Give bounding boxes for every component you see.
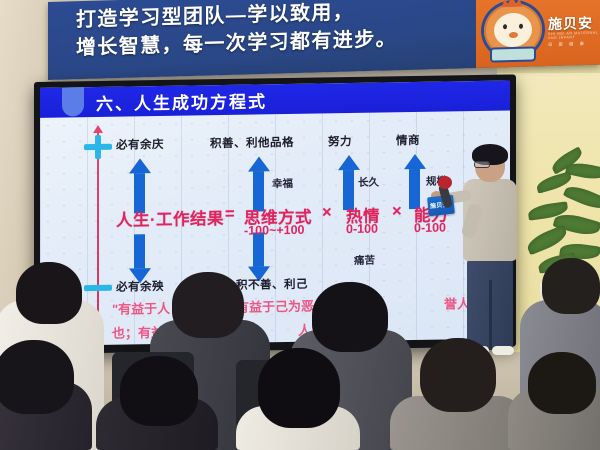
slide-title: 六、人生成功方程式 (96, 87, 267, 115)
slide-label-bottom-3: 痛苦 (354, 253, 375, 268)
audience-person-4-head (542, 258, 600, 314)
plus-symbol-icon-v (95, 135, 101, 159)
audience-person-8-head (420, 338, 496, 412)
equation-multiply-1: × (322, 203, 332, 222)
equation-term-2-range: 0-100 (346, 222, 378, 237)
minus-symbol-icon (84, 285, 112, 291)
meeting-room-scene: 打造学习型团队—学以致用， 增长智慧，每一次学习都有进步。 施贝安 SHI BE… (0, 0, 600, 450)
banner-text: 打造学习型团队—学以致用， 增长智慧，每一次学习都有进步。 (76, 0, 466, 63)
microphone-head-icon (438, 176, 452, 189)
logo-subtitle: SHI BEI AN MATERNAL AND INFANT (548, 31, 600, 40)
equation-term-1-range: -100~+100 (244, 223, 304, 238)
audience-person-3-head (312, 282, 388, 352)
equation-equals: = (225, 205, 235, 224)
lion-mascot-icon (482, 0, 546, 62)
slide-label-top-1: 必有余庆 (116, 136, 164, 153)
equation-term-3-range: 0-100 (414, 221, 446, 236)
up-arrow-head-1 (129, 158, 151, 173)
slide-label-mid-1: 幸福 (272, 176, 293, 191)
presenter-glasses-icon (474, 161, 490, 168)
down-arrow-shaft-1 (134, 234, 145, 268)
up-arrow-head-3 (338, 155, 360, 170)
slide-label-bottom-1: 必有余殃 (116, 278, 164, 295)
slide-label-bottom-2: 积不善、利己 (236, 276, 308, 293)
audience-person-5-head (0, 340, 74, 414)
audience-person-7-head (258, 348, 340, 428)
audience-person-2-head (172, 272, 244, 338)
up-arrow-head-4 (404, 154, 426, 169)
presenter-shoe-right (492, 346, 514, 355)
presenter: 施贝安 (455, 148, 525, 363)
equation-result: 人生·工作结果 (116, 205, 224, 231)
audience-person-9-head (528, 352, 596, 414)
company-logo: 施贝安 SHI BEI AN MATERNAL AND INFANT 母 婴 健… (476, 0, 600, 68)
slide-quote-1: "有益于人 (112, 298, 170, 318)
logo-subtitle-cn: 母 婴 健 康 (548, 41, 586, 48)
slide-label-mid-2: 长久 (358, 175, 379, 190)
equation-multiply-2: × (392, 202, 402, 221)
up-arrow-head-2 (248, 156, 270, 171)
slide-label-top-2: 积善、利他品格 (210, 134, 294, 151)
slide-label-top-4: 情商 (396, 132, 420, 148)
slide-label-top-3: 努力 (328, 133, 352, 149)
title-accent-shape (62, 84, 84, 116)
audience-person-1-head (16, 262, 82, 324)
audience-person-6-head (120, 356, 198, 426)
